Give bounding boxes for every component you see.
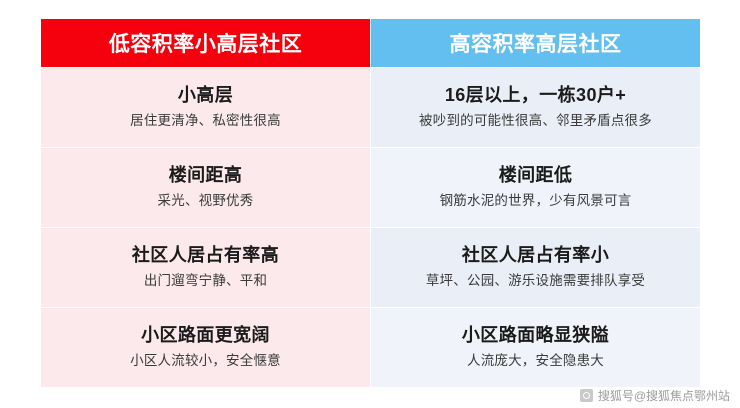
table-row: 小区路面更宽阔 小区人流较小，安全惬意 小区路面略显狭隘 人流庞大，安全隐患大 (41, 308, 701, 388)
cell-subtitle: 钢筋水泥的世界，少有风景可言 (381, 191, 690, 211)
cell-subtitle: 居住更清净、私密性很高 (51, 111, 360, 131)
table-row: 社区人居占有率高 出门遛弯宁静、平和 社区人居占有率小 草坪、公园、游乐设施需要… (41, 228, 701, 308)
table-body: 小高层 居住更清净、私密性很高 16层以上，一栋30户+ 被吵到的可能性很高、邻… (41, 68, 701, 388)
watermark-text: 搜狐号@搜狐焦点鄂州站 (598, 387, 730, 404)
cell-title: 16层以上，一栋30户+ (381, 84, 690, 107)
watermark: 搜狐号@搜狐焦点鄂州站 (580, 387, 730, 404)
cell-left-1: 小高层 居住更清净、私密性很高 (41, 68, 371, 148)
cell-subtitle: 小区人流较小，安全惬意 (51, 351, 360, 371)
page-root: 低容积率小高层社区 高容积率高层社区 小高层 居住更清净、私密性很高 16层以上… (0, 0, 740, 408)
cell-right-3: 社区人居占有率小 草坪、公园、游乐设施需要排队享受 (371, 228, 701, 308)
cell-subtitle: 被吵到的可能性很高、邻里矛盾点很多 (381, 111, 690, 131)
cell-title: 楼间距低 (381, 164, 690, 187)
cell-right-4: 小区路面略显狭隘 人流庞大，安全隐患大 (371, 308, 701, 388)
sohu-logo-icon (580, 389, 593, 402)
cell-title: 小高层 (51, 84, 360, 107)
cell-left-4: 小区路面更宽阔 小区人流较小，安全惬意 (41, 308, 371, 388)
cell-title: 楼间距高 (51, 164, 360, 187)
table-row: 小高层 居住更清净、私密性很高 16层以上，一栋30户+ 被吵到的可能性很高、邻… (41, 68, 701, 148)
comparison-table-container: 低容积率小高层社区 高容积率高层社区 小高层 居住更清净、私密性很高 16层以上… (40, 18, 700, 388)
header-cell-high-plot-ratio: 高容积率高层社区 (371, 19, 701, 68)
table-header-row: 低容积率小高层社区 高容积率高层社区 (41, 19, 701, 68)
cell-title: 社区人居占有率高 (51, 244, 360, 267)
header-cell-low-plot-ratio: 低容积率小高层社区 (41, 19, 371, 68)
cell-subtitle: 出门遛弯宁静、平和 (51, 271, 360, 291)
cell-right-1: 16层以上，一栋30户+ 被吵到的可能性很高、邻里矛盾点很多 (371, 68, 701, 148)
cell-left-3: 社区人居占有率高 出门遛弯宁静、平和 (41, 228, 371, 308)
cell-right-2: 楼间距低 钢筋水泥的世界，少有风景可言 (371, 148, 701, 228)
cell-subtitle: 人流庞大，安全隐患大 (381, 351, 690, 371)
cell-title: 小区路面略显狭隘 (381, 324, 690, 347)
cell-title: 小区路面更宽阔 (51, 324, 360, 347)
cell-left-2: 楼间距高 采光、视野优秀 (41, 148, 371, 228)
cell-title: 社区人居占有率小 (381, 244, 690, 267)
cell-subtitle: 采光、视野优秀 (51, 191, 360, 211)
comparison-table: 低容积率小高层社区 高容积率高层社区 小高层 居住更清净、私密性很高 16层以上… (40, 18, 701, 388)
table-row: 楼间距高 采光、视野优秀 楼间距低 钢筋水泥的世界，少有风景可言 (41, 148, 701, 228)
cell-subtitle: 草坪、公园、游乐设施需要排队享受 (381, 271, 690, 291)
